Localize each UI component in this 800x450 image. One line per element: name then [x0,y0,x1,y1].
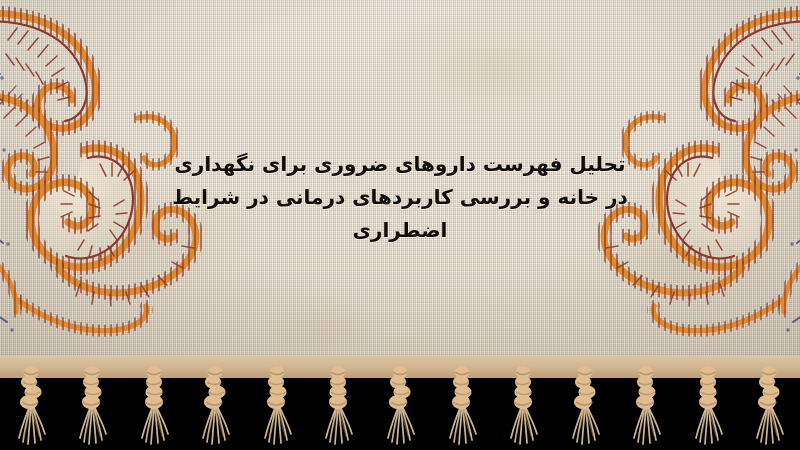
tassel [75,364,109,450]
tassel [629,364,663,450]
tassel [568,364,602,450]
tassel [137,364,171,450]
tassel-fringe-band [0,356,800,450]
title-line-1: تحلیل فهرست داروهای ضروری برای نگهداری [150,148,650,181]
tassel [260,364,294,450]
tassel [445,364,479,450]
tassel [752,364,786,450]
slide-title: تحلیل فهرست داروهای ضروری برای نگهداری د… [150,148,650,247]
tassel [198,364,232,450]
tassel [506,364,540,450]
tassel [383,364,417,450]
title-line-2: در خانه و بررسی کاربردهای درمانی در شرای… [150,181,650,214]
tassel [14,364,48,450]
tassel [321,364,355,450]
title-line-3: اضطراری [150,214,650,247]
tassel [691,364,725,450]
slide-canvas: تحلیل فهرست داروهای ضروری برای نگهداری د… [0,0,800,450]
